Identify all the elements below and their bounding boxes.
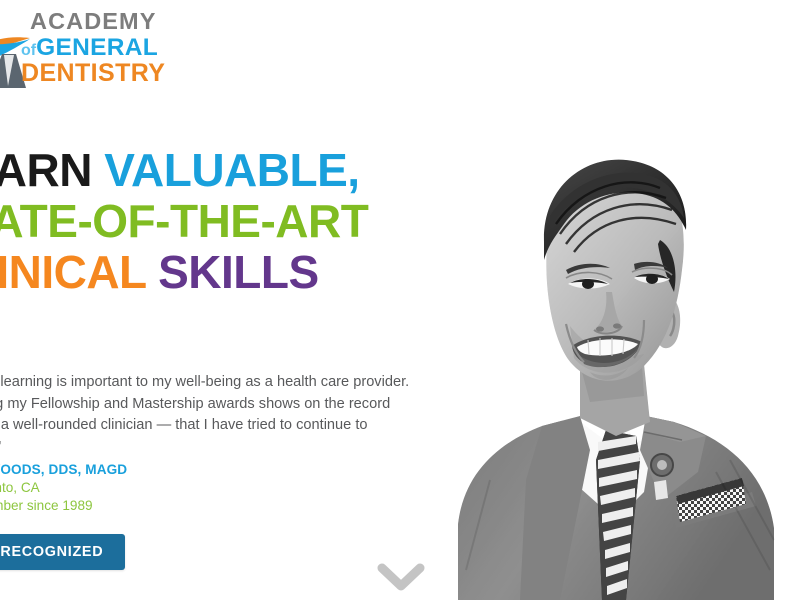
headline-line-2: STATE-OF-THE-ART: [0, 196, 496, 247]
attribution-location: Sacramento, CA: [0, 479, 410, 497]
testimonial-quote: "Lifelong learning is important to my we…: [0, 372, 410, 458]
attribution-name: BRIAN WOODS, DDS, MAGD: [0, 461, 410, 479]
agd-logo[interactable]: ACADEMY of GENERAL DENTISTRY: [0, 10, 186, 92]
headline-word-learn: LEARN: [0, 144, 104, 196]
headline-word-valuable: VALUABLE,: [104, 144, 359, 196]
headline-word-skills: SKILLS: [158, 246, 319, 298]
logo-word-of: of: [21, 43, 36, 59]
headline-line-3: CLINICAL SKILLS: [0, 247, 496, 298]
chevron-down-icon[interactable]: [377, 562, 425, 592]
logo-word-general: GENERAL: [36, 36, 158, 61]
headline-word-clinical: CLINICAL: [0, 246, 158, 298]
logo-line-academy: ACADEMY: [20, 10, 186, 34]
logo-line-of-general: of GENERAL: [20, 36, 186, 61]
hero-section: ACADEMY of GENERAL DENTISTRY LEARN VALUA…: [0, 0, 800, 600]
headline-line-1: LEARN VALUABLE,: [0, 145, 496, 196]
testimonial: "Lifelong learning is important to my we…: [0, 372, 410, 515]
logo-line-dentistry: DENTISTRY: [20, 61, 186, 86]
hero-headline: LEARN VALUABLE, STATE-OF-THE-ART CLINICA…: [0, 145, 496, 298]
get-recognized-button[interactable]: GET RECOGNIZED: [0, 534, 125, 570]
portrait-photo: [430, 120, 800, 600]
logo-wordmark: ACADEMY of GENERAL DENTISTRY: [20, 10, 186, 86]
attribution-membership: AGD member since 1989: [0, 497, 410, 515]
testimonial-attribution: BRIAN WOODS, DDS, MAGD Sacramento, CA AG…: [0, 461, 410, 515]
